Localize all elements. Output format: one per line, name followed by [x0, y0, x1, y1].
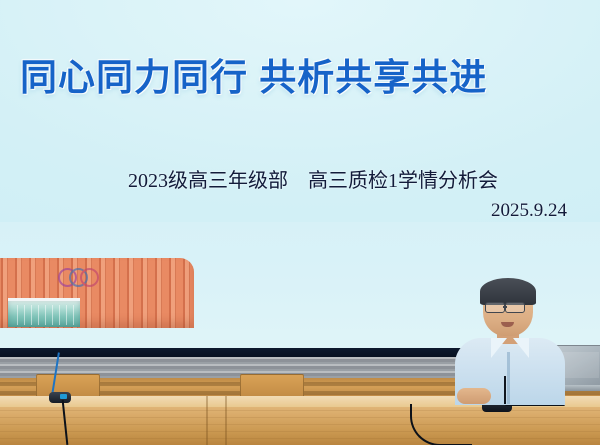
- presentation-screenshot: 同心同力同行 共析共享共进 2023级高三年级部 高三质检1学情分析会 2025…: [0, 0, 600, 445]
- arena-glass-facade: [8, 298, 80, 327]
- glasses-left-lens-icon: [485, 302, 505, 313]
- speaker-hand: [457, 388, 491, 404]
- slide-date: 2025.9.24: [0, 198, 600, 224]
- slide-subtitle-block: 2023级高三年级部 高三质检1学情分析会 2025.9.24: [0, 168, 600, 224]
- desk-wood-grain: [0, 407, 600, 445]
- slide-subtitle: 2023级高三年级部 高三质检1学情分析会: [0, 168, 600, 194]
- chair: [240, 374, 304, 398]
- glasses-bridge-icon: [503, 306, 507, 308]
- shirt-collar-right: [513, 338, 529, 358]
- olympic-rings-logo: [58, 268, 104, 284]
- microphone-base: [49, 392, 71, 403]
- ring: [80, 268, 99, 287]
- shirt-collar-left: [491, 338, 507, 358]
- shirt-placket: [507, 352, 510, 404]
- desk-panel-seam: [225, 396, 227, 445]
- desk-panel-seam: [206, 396, 208, 445]
- speaker-person: [455, 280, 565, 405]
- lapel-microphone-cable: [504, 376, 506, 404]
- glasses-right-lens-icon: [505, 302, 525, 313]
- slide-title: 同心同力同行 共析共享共进: [20, 54, 580, 102]
- speaker-hair: [480, 278, 536, 305]
